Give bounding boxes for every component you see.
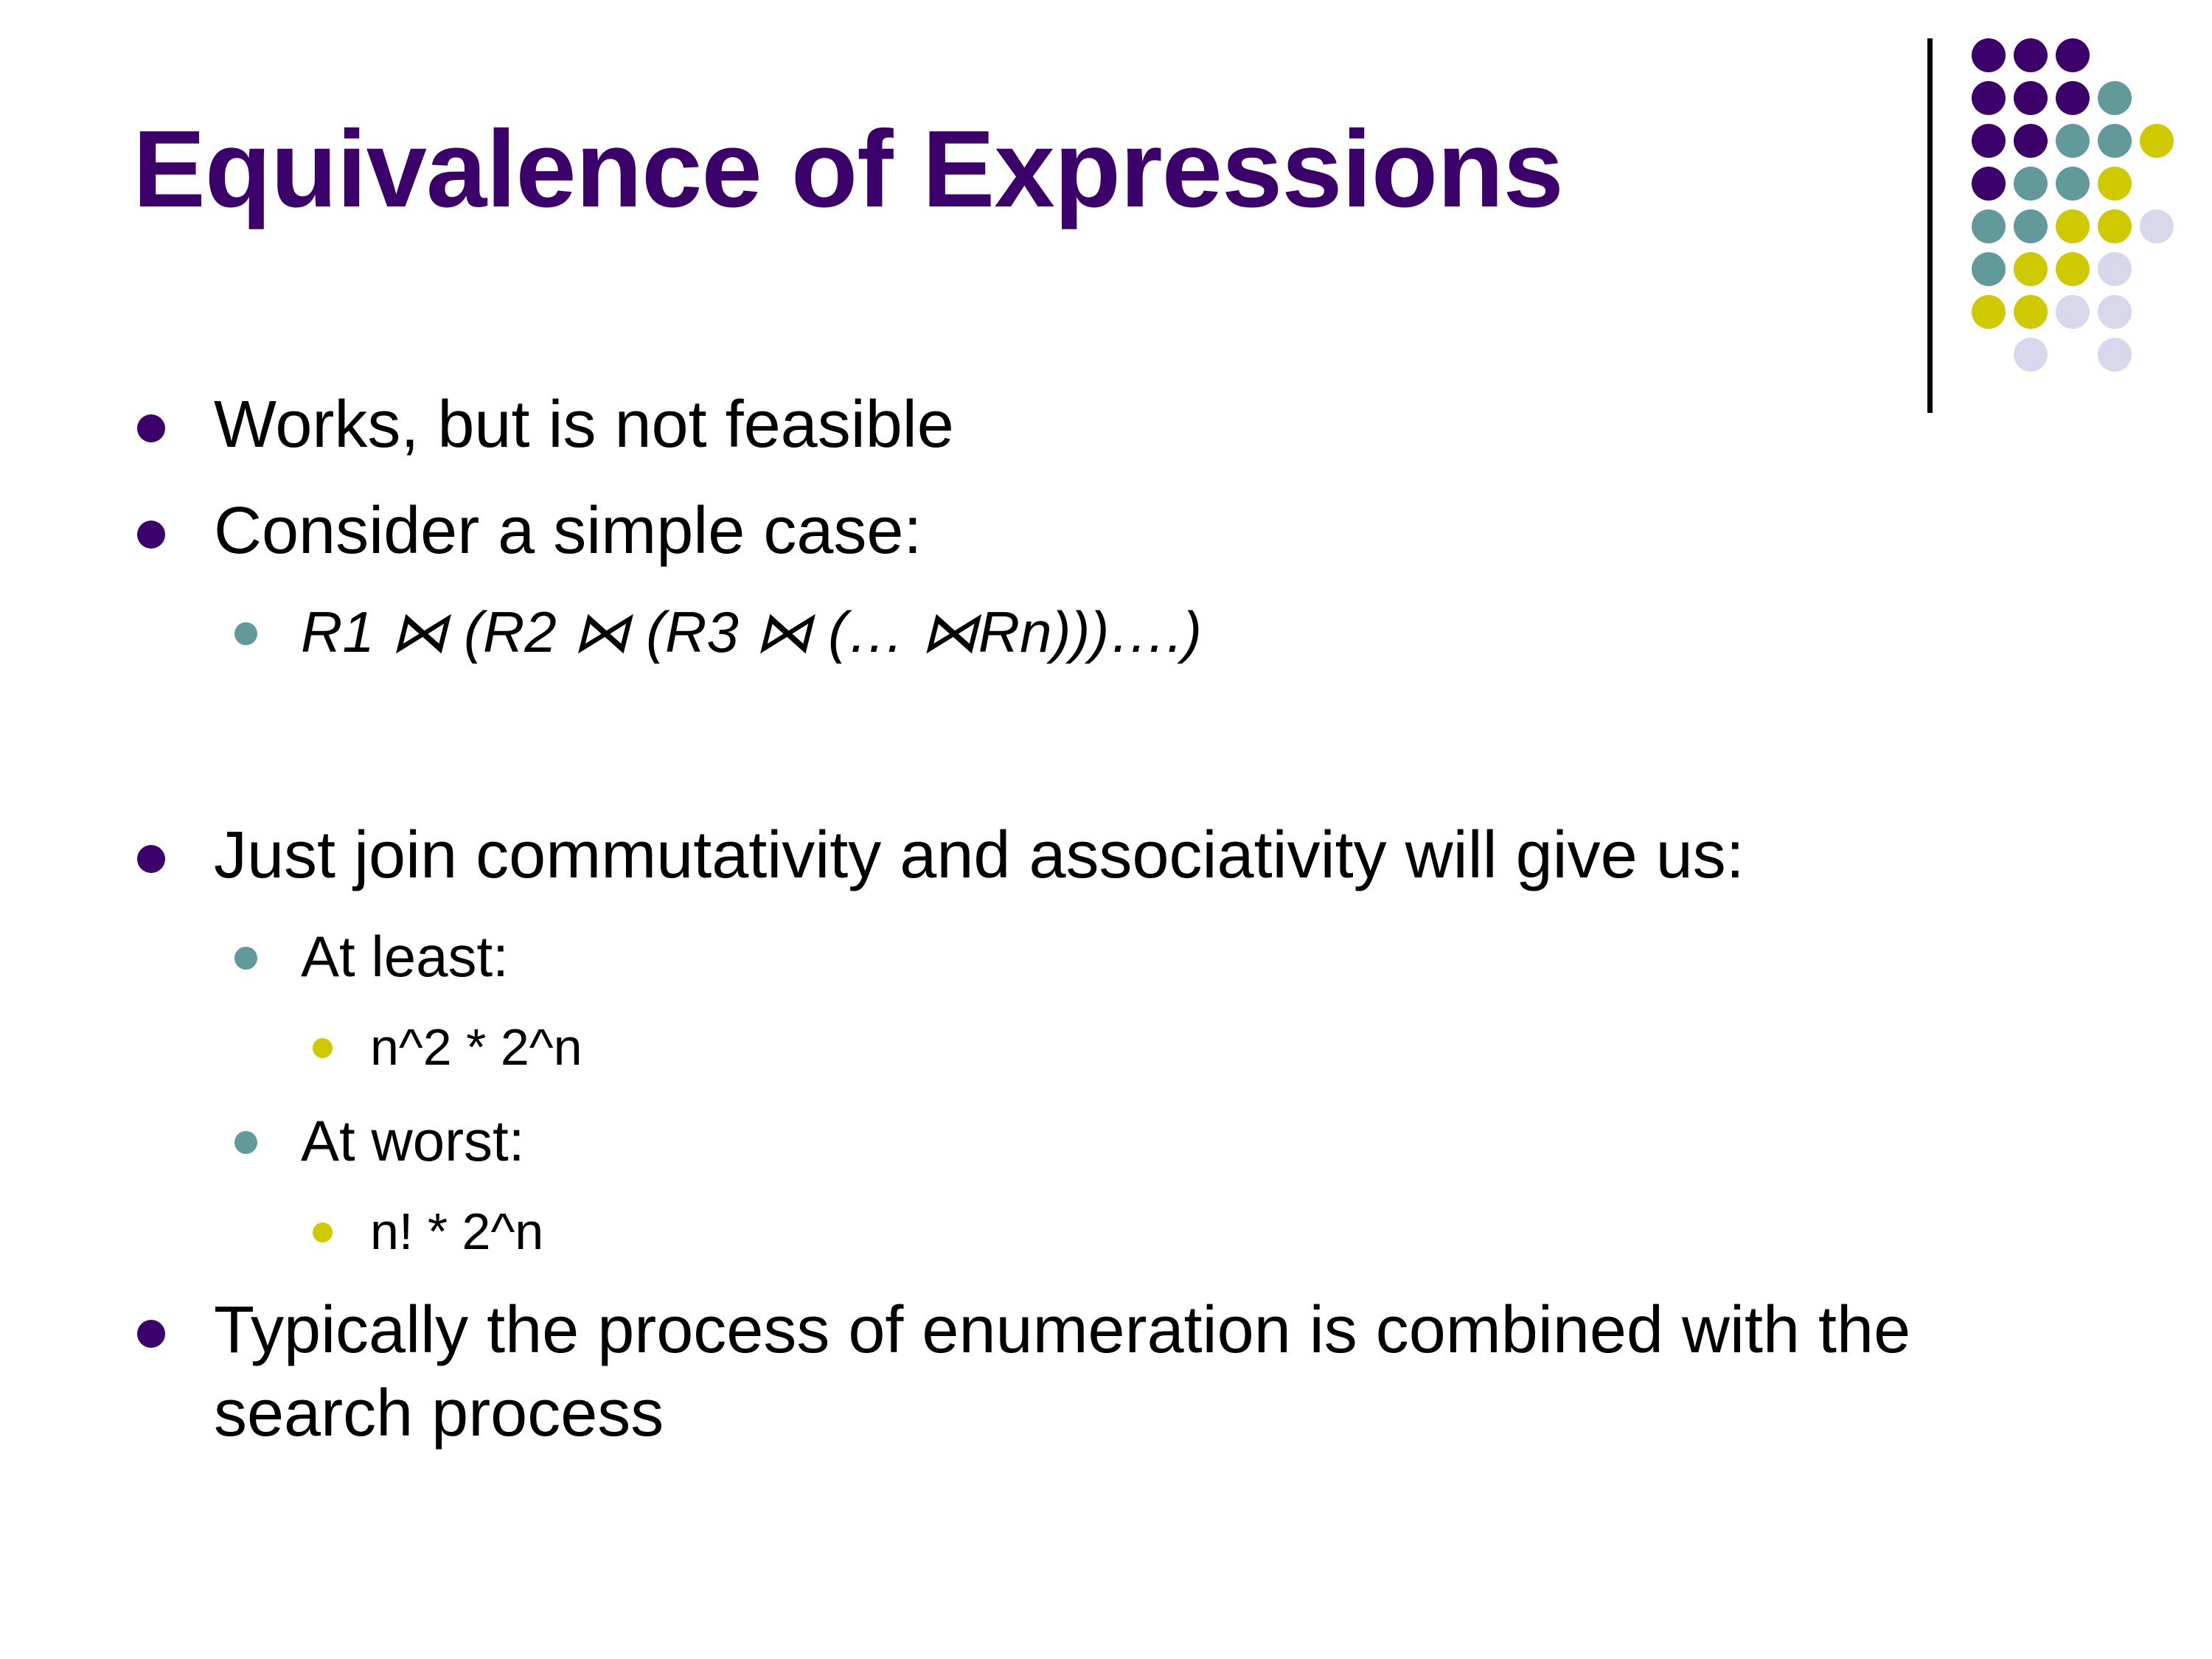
- logo-dot-purple: [1972, 81, 2006, 115]
- logo-dot-lavender: [2056, 295, 2090, 329]
- bullet-text: R1 ⋈ (R2 ⋈ (R3 ⋈ (… ⋈Rn)))….): [301, 596, 2124, 668]
- logo-dot-teal: [1972, 209, 2006, 243]
- logo-dot-purple: [2014, 81, 2048, 115]
- slide-canvas: Equivalence of Expressions Works, but is…: [0, 0, 2212, 1659]
- bullet-text: n^2 * 2^n: [370, 1015, 2124, 1079]
- page-title: Equivalence of Expressions: [133, 111, 1851, 229]
- logo-dot-yellow: [1972, 295, 2006, 329]
- logo-dot-purple: [2056, 38, 2090, 72]
- bullet-dot-icon: [137, 845, 165, 873]
- logo-dot-lavender: [2140, 209, 2174, 243]
- logo-dot-teal: [2098, 81, 2132, 115]
- slide-body: Works, but is not feasibleConsider a sim…: [0, 383, 2212, 1456]
- logo-dot-teal: [2056, 167, 2090, 201]
- bullet-text: Consider a simple case:: [214, 490, 2079, 573]
- logo-dot-yellow: [2014, 295, 2048, 329]
- bullet-dot-icon: [137, 414, 165, 442]
- bullet-item-level-2: At least:: [0, 920, 2212, 1015]
- bullet-dot-icon: [137, 1320, 165, 1348]
- bullet-dot-icon: [137, 521, 165, 549]
- logo-vertical-rule: [1927, 38, 1933, 413]
- logo-dot-purple: [2014, 124, 2048, 158]
- bullet-dot-icon: [313, 1222, 333, 1242]
- bullet-item-level-1: Consider a simple case:: [0, 490, 2212, 596]
- logo-dot-yellow: [2098, 167, 2132, 201]
- logo-dot-yellow: [2098, 209, 2132, 243]
- logo-dot-yellow: [2056, 252, 2090, 286]
- bullet-item-level-2: R1 ⋈ (R2 ⋈ (R3 ⋈ (… ⋈Rn)))….): [0, 596, 2212, 690]
- logo-dot-purple: [2056, 81, 2090, 115]
- logo-dot-teal: [2098, 124, 2132, 158]
- bullet-dot-icon: [234, 947, 257, 970]
- logo-dot-grid: [1972, 38, 2208, 407]
- bullet-item-level-1: Typically the process of enumeration is …: [0, 1289, 2212, 1456]
- bullet-item-level-2: At worst:: [0, 1105, 2212, 1199]
- bullet-item-level-3: n^2 * 2^n: [0, 1015, 2212, 1105]
- logo-dot-lavender: [2098, 252, 2132, 286]
- blank-line-spacer: [0, 690, 2212, 814]
- logo-dot-purple: [1972, 167, 2006, 201]
- logo-dot-teal: [2014, 209, 2048, 243]
- bullet-item-level-1: Works, but is not feasible: [0, 383, 2212, 490]
- dot-grid-logo: [1921, 29, 2212, 413]
- bullet-dot-icon: [313, 1038, 333, 1058]
- bullet-item-level-3: n! * 2^n: [0, 1199, 2212, 1289]
- logo-dot-teal: [2014, 167, 2048, 201]
- bullet-text: At worst:: [301, 1105, 2124, 1177]
- bullet-text: Just join commutativity and associativit…: [214, 814, 2079, 897]
- logo-dot-yellow: [2140, 124, 2174, 158]
- bullet-dot-icon: [234, 622, 257, 645]
- bullet-text: At least:: [301, 920, 2124, 992]
- logo-dot-lavender: [2098, 295, 2132, 329]
- logo-dot-purple: [2014, 38, 2048, 72]
- logo-dot-purple: [1972, 38, 2006, 72]
- bullet-text: n! * 2^n: [370, 1199, 2124, 1264]
- logo-dot-lavender: [2014, 338, 2048, 372]
- logo-dot-yellow: [2014, 252, 2048, 286]
- logo-dot-purple: [1972, 124, 2006, 158]
- logo-dot-teal: [1972, 252, 2006, 286]
- bullet-item-level-1: Just join commutativity and associativit…: [0, 814, 2212, 920]
- bullet-text: Typically the process of enumeration is …: [214, 1289, 2079, 1456]
- logo-dot-lavender: [2098, 338, 2132, 372]
- logo-dot-teal: [2056, 124, 2090, 158]
- logo-dot-yellow: [2056, 209, 2090, 243]
- bullet-text: Works, but is not feasible: [214, 383, 2079, 467]
- bullet-dot-icon: [234, 1131, 257, 1154]
